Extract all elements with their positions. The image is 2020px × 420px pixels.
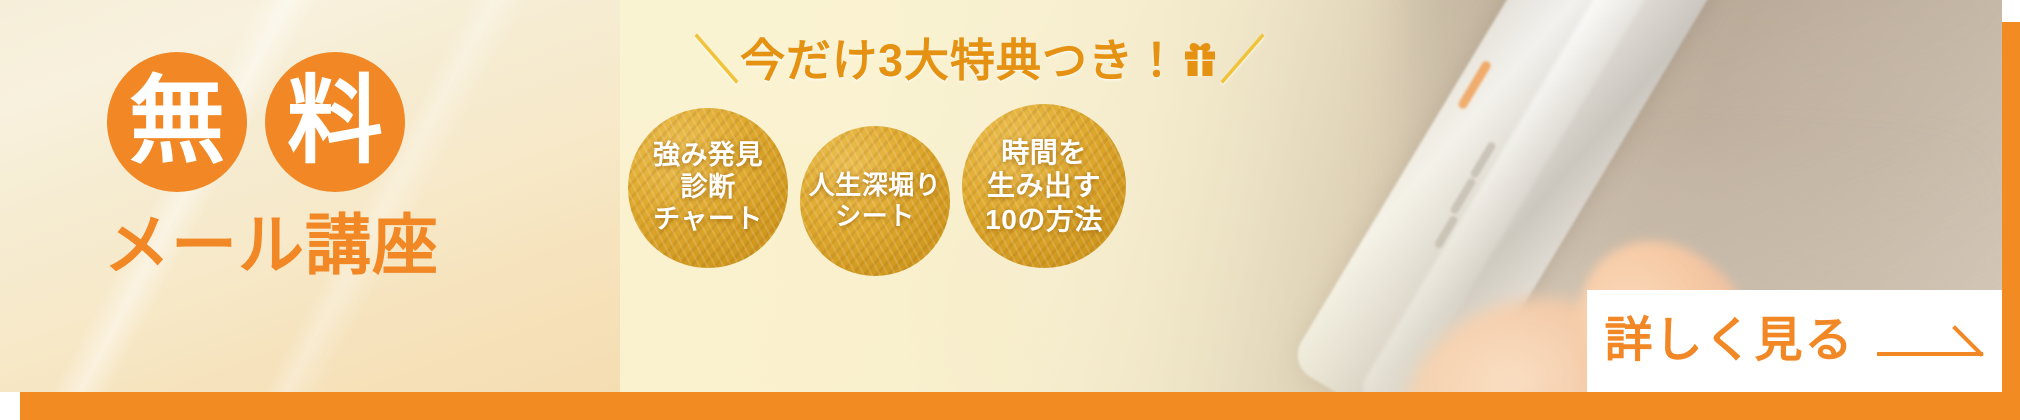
gift-icon	[1180, 39, 1220, 86]
benefit-line: チャート	[653, 204, 763, 236]
benefit-strength-chart: 強み発見 診断 チャート	[628, 108, 788, 268]
benefit-line: 人生深堀り	[809, 170, 942, 201]
slash-right-icon: ／	[1220, 35, 1266, 87]
free-kanji-ryo: 料	[287, 74, 383, 170]
benefit-line: シート	[835, 201, 915, 232]
benefit-time-methods: 時間を 生み出す 10の方法	[962, 104, 1126, 268]
benefit-circle-group: 強み発見 診断 チャート 人生深堀り シート 時間を 生み出す 10の方法	[628, 100, 1128, 310]
arrow-right-icon	[1877, 324, 1985, 358]
slash-left-icon: ＼	[694, 35, 740, 87]
email-course-banner: 無 料 メール講座 ＼今だけ3大特典つき！ ／ 強み発見 診断 チャート	[0, 0, 2020, 420]
mail-course-title: メール講座	[104, 212, 404, 278]
free-kanji-ryo-circle: 料	[265, 52, 405, 192]
free-kanji-mu: 無	[129, 74, 225, 170]
details-cta-button[interactable]: 詳しく見る	[1587, 290, 2002, 392]
catchphrase: ＼今だけ3大特典つき！ ／	[660, 38, 1300, 86]
right-orange-bar	[2002, 22, 2020, 420]
free-kanji-mu-circle: 無	[107, 52, 247, 192]
benefit-life-sheet: 人生深堀り シート	[800, 126, 950, 276]
benefit-line: 生み出す	[987, 169, 1101, 202]
cta-label: 詳しく見る	[1604, 317, 1854, 365]
benefit-line: 強み発見	[653, 140, 763, 172]
benefit-line: 診断	[681, 172, 736, 204]
catchphrase-text: 今だけ3大特典つき！	[740, 35, 1180, 86]
free-badge-group: 無 料	[107, 52, 405, 192]
bottom-orange-bar	[20, 392, 2002, 420]
benefit-line: 10の方法	[985, 203, 1103, 236]
benefit-line: 時間を	[1001, 136, 1087, 169]
